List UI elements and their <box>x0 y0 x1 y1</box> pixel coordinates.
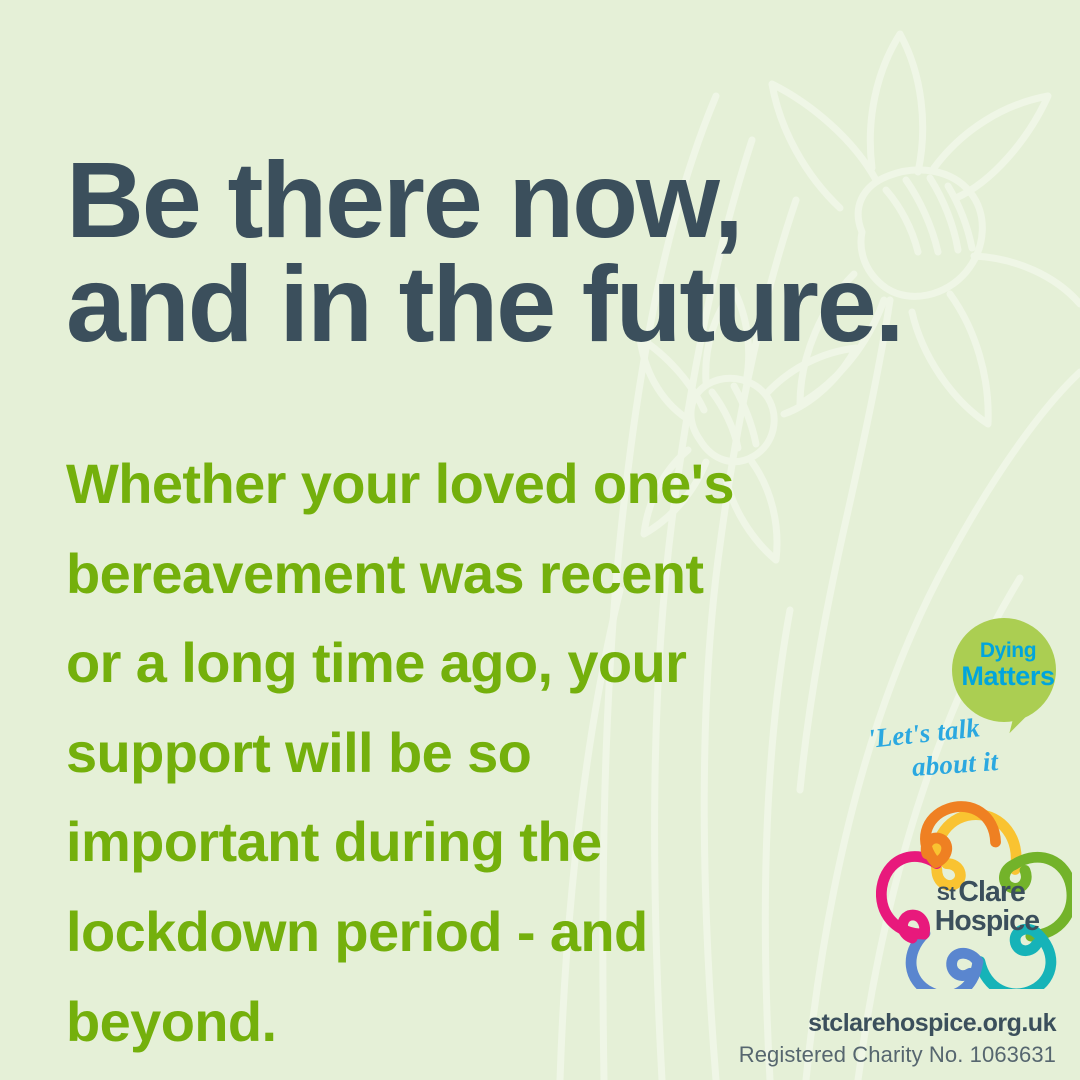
dying-matters-logo: Dying Matters 'Let's talk about it <box>862 618 1076 793</box>
logo-name-large: Clare <box>958 876 1025 908</box>
page-title: Be there now, and in the future. <box>66 148 1066 355</box>
website-url[interactable]: stclarehospice.org.uk <box>739 1009 1056 1038</box>
poster-canvas: Be there now, and in the future. Whether… <box>0 0 1080 1080</box>
charity-number: Registered Charity No. 1063631 <box>739 1042 1056 1068</box>
dying-matters-tagline: 'Let's talk about it <box>868 726 998 781</box>
logo-name-small: St <box>937 883 956 905</box>
petal-bottom-blue-icon <box>911 933 978 989</box>
petal-bottom-blue-curl-icon <box>952 953 978 975</box>
tagline-line2: about it <box>911 748 999 781</box>
dying-matters-wordmark: Dying Matters <box>960 640 1056 690</box>
st-clare-hospice-logo: St Clare Hospice <box>876 793 1072 989</box>
dying-matters-line1: Dying <box>960 640 1056 661</box>
footer: stclarehospice.org.uk Registered Charity… <box>739 1009 1056 1068</box>
petal-bottomleft-pink-curl-icon <box>903 915 925 938</box>
dying-matters-line2: Matters <box>960 663 1056 690</box>
logo-name-second-line: Hospice <box>935 905 1039 937</box>
body-message: Whether your loved one's bereavement was… <box>66 439 846 1066</box>
